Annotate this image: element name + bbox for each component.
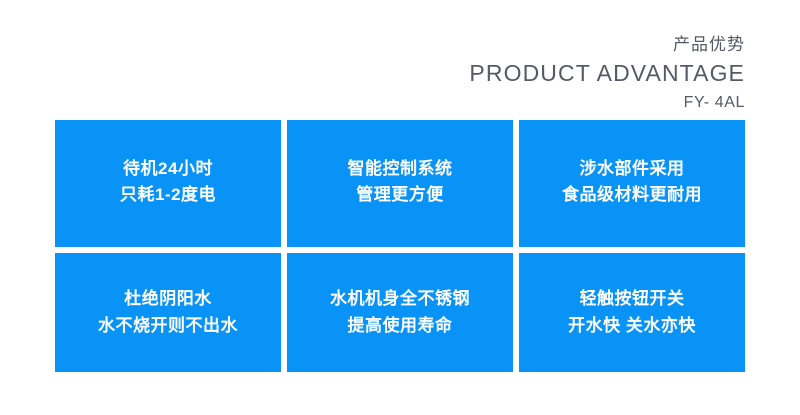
advantage-tile-4: 杜绝阴阳水 水不烧开则不出水 <box>55 253 281 372</box>
advantage-grid: 待机24小时 只耗1-2度电 智能控制系统 管理更方便 涉水部件采用 食品级材料… <box>55 120 745 372</box>
advantage-tile-1-line-2: 只耗1-2度电 <box>120 182 216 208</box>
advantage-tile-2-line-1: 智能控制系统 <box>348 156 453 182</box>
page-header: 产品优势 PRODUCT ADVANTAGE FY- 4AL <box>469 36 745 111</box>
advantage-tile-5: 水机机身全不锈钢 提高使用寿命 <box>287 253 513 372</box>
advantage-tile-6: 轻触按钮开关 开水快 关水亦快 <box>519 253 745 372</box>
header-title-en: PRODUCT ADVANTAGE <box>469 62 745 85</box>
advantage-tile-3: 涉水部件采用 食品级材料更耐用 <box>519 120 745 247</box>
advantage-tile-4-line-2: 水不烧开则不出水 <box>98 313 238 339</box>
advantage-tile-3-line-1: 涉水部件采用 <box>580 156 685 182</box>
advantage-tile-1-line-1: 待机24小时 <box>123 156 213 182</box>
advantage-tile-5-line-1: 水机机身全不锈钢 <box>330 286 470 312</box>
advantage-tile-4-line-1: 杜绝阴阳水 <box>124 286 212 312</box>
header-title-cn: 产品优势 <box>469 36 745 53</box>
advantage-tile-6-line-2: 开水快 关水亦快 <box>568 313 696 339</box>
header-model-number: FY- 4AL <box>469 95 745 111</box>
advantage-tile-3-line-2: 食品级材料更耐用 <box>562 182 702 208</box>
advantage-tile-1: 待机24小时 只耗1-2度电 <box>55 120 281 247</box>
advantage-tile-6-line-1: 轻触按钮开关 <box>580 286 685 312</box>
advantage-tile-2-line-2: 管理更方便 <box>356 182 444 208</box>
advantage-tile-5-line-2: 提高使用寿命 <box>348 313 453 339</box>
product-advantage-page: 产品优势 PRODUCT ADVANTAGE FY- 4AL 待机24小时 只耗… <box>0 0 800 415</box>
advantage-tile-2: 智能控制系统 管理更方便 <box>287 120 513 247</box>
